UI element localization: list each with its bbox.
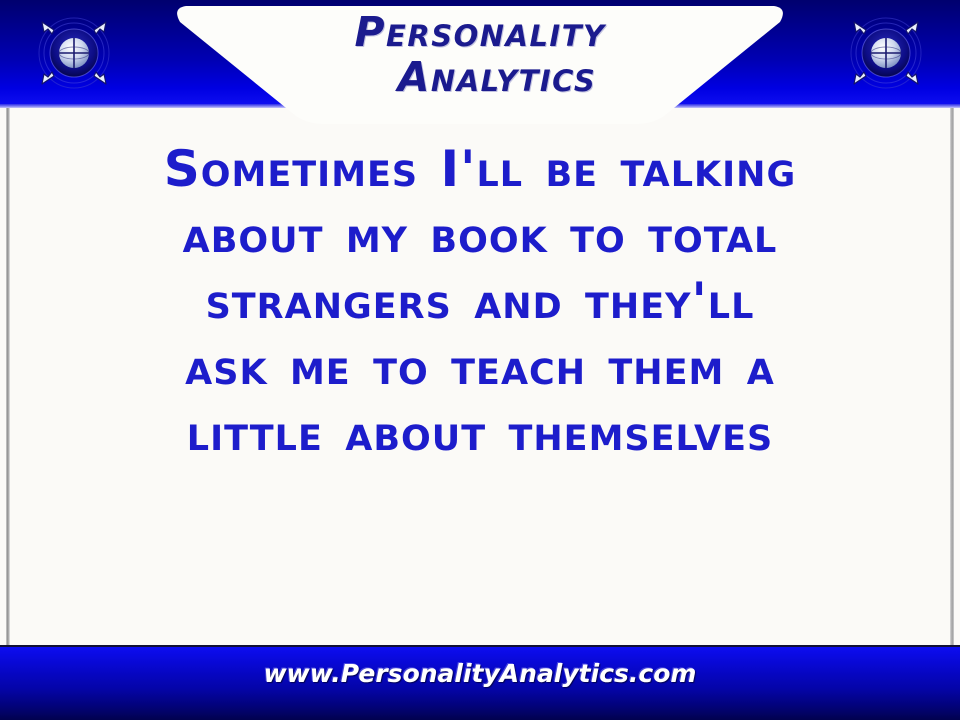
brand-title-line-1: Personality <box>355 12 606 53</box>
quote-line: ask me to teach them a <box>14 334 946 400</box>
quote-line: about my book to total <box>14 202 946 268</box>
slide-root: Personality Analytics <box>0 0 960 720</box>
quote-line: little about themselves <box>14 400 946 466</box>
quote-line: strangers and they'll <box>14 268 946 334</box>
brand-title: Personality Analytics <box>170 12 790 116</box>
footer-bar: www.PersonalityAnalytics.com <box>0 645 960 720</box>
panel-border-right <box>950 108 954 645</box>
quote-text: Sometimes I'll be talking about my book … <box>14 136 946 466</box>
quote-panel: Sometimes I'll be talking about my book … <box>0 108 960 645</box>
quote-line: Sometimes I'll be talking <box>14 136 946 202</box>
footer-website-url[interactable]: www.PersonalityAnalytics.com <box>0 659 960 688</box>
brand-title-line-2: Analytics <box>398 57 597 98</box>
panel-border-left <box>6 108 10 645</box>
footer-top-divider <box>0 645 960 647</box>
compass-logo-icon-left <box>30 12 118 94</box>
compass-logo-icon-right <box>842 12 930 94</box>
